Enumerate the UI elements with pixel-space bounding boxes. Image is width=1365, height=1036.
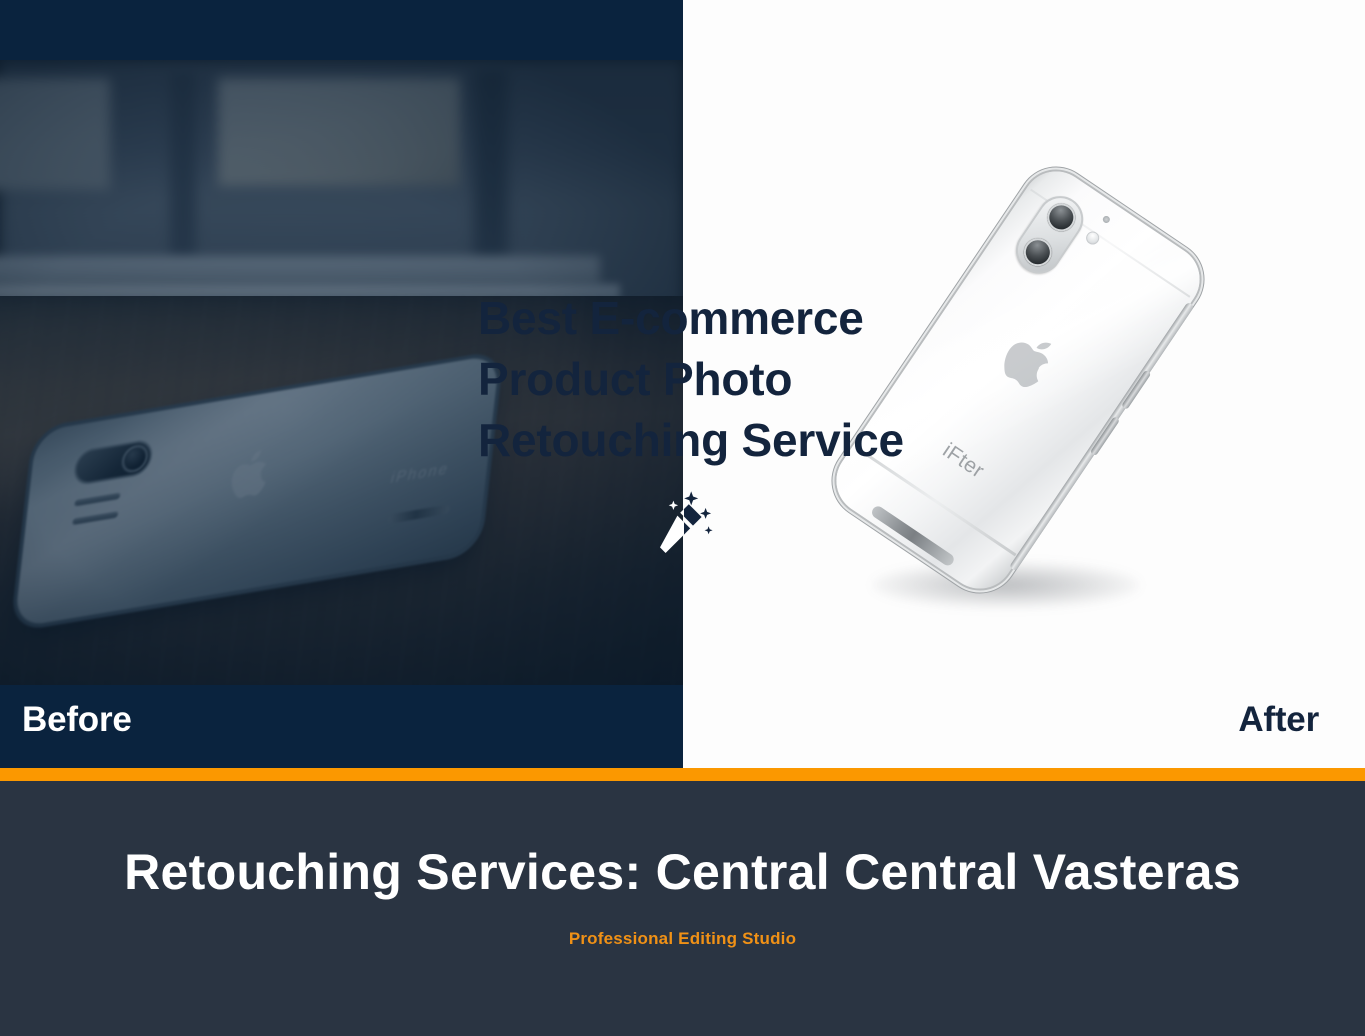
before-after-promo-banner: iFter bbox=[0, 0, 1365, 1036]
after-panel: iFter bbox=[683, 0, 1365, 768]
footer-banner: Retouching Services: Central Central Vas… bbox=[0, 781, 1365, 1036]
before-band-top bbox=[0, 0, 683, 60]
before-panel: iPhone bbox=[0, 0, 683, 768]
orange-accent-divider bbox=[0, 768, 1365, 781]
after-label: After bbox=[1238, 700, 1319, 740]
footer-subtitle: Professional Editing Studio bbox=[0, 929, 1365, 949]
before-navy-overlay bbox=[0, 0, 683, 768]
camera-lens-icon bbox=[1042, 198, 1081, 237]
after-phone-body: iFter bbox=[823, 158, 1212, 601]
camera-lens-icon bbox=[1018, 233, 1057, 272]
after-product-photo: iFter bbox=[858, 170, 1158, 610]
comparison-hero: iFter bbox=[0, 0, 1365, 768]
footer-title: Retouching Services: Central Central Vas… bbox=[0, 843, 1365, 901]
before-label: Before bbox=[22, 700, 132, 740]
